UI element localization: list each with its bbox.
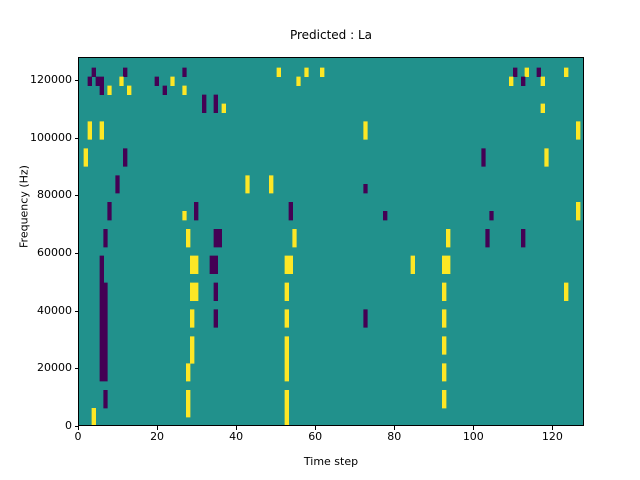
y-tick-label: 80000 bbox=[37, 188, 72, 201]
y-tick-mark bbox=[75, 138, 79, 139]
x-tick-label: 120 bbox=[522, 430, 582, 443]
x-tick-label: 0 bbox=[48, 430, 108, 443]
x-tick-mark bbox=[78, 426, 79, 430]
x-tick-mark bbox=[236, 426, 237, 430]
x-tick-label: 40 bbox=[206, 430, 266, 443]
chart-title: Predicted : La bbox=[78, 28, 584, 42]
x-tick-label: 100 bbox=[443, 430, 503, 443]
y-tick-mark bbox=[75, 253, 79, 254]
y-tick-mark bbox=[75, 368, 79, 369]
x-tick-label: 80 bbox=[364, 430, 424, 443]
y-tick-mark bbox=[75, 195, 79, 196]
x-tick-label: 20 bbox=[127, 430, 187, 443]
y-tick-label: 20000 bbox=[37, 361, 72, 374]
y-tick-mark bbox=[75, 311, 79, 312]
y-tick-label: 100000 bbox=[30, 131, 72, 144]
matplotlib-figure: Predicted : La Frequency (Hz) Time step … bbox=[0, 0, 640, 480]
heatmap-axes bbox=[78, 57, 584, 426]
heatmap-image bbox=[80, 59, 584, 426]
x-axis-label: Time step bbox=[78, 455, 584, 468]
x-tick-mark bbox=[552, 426, 553, 430]
y-tick-label: 60000 bbox=[37, 246, 72, 259]
x-tick-mark bbox=[473, 426, 474, 430]
y-tick-label: 120000 bbox=[30, 73, 72, 86]
x-tick-mark bbox=[157, 426, 158, 430]
x-tick-mark bbox=[315, 426, 316, 430]
y-tick-label: 40000 bbox=[37, 304, 72, 317]
x-tick-label: 60 bbox=[285, 430, 345, 443]
x-tick-mark bbox=[394, 426, 395, 430]
y-axis-label: Frequency (Hz) bbox=[18, 97, 31, 317]
y-tick-mark bbox=[75, 80, 79, 81]
